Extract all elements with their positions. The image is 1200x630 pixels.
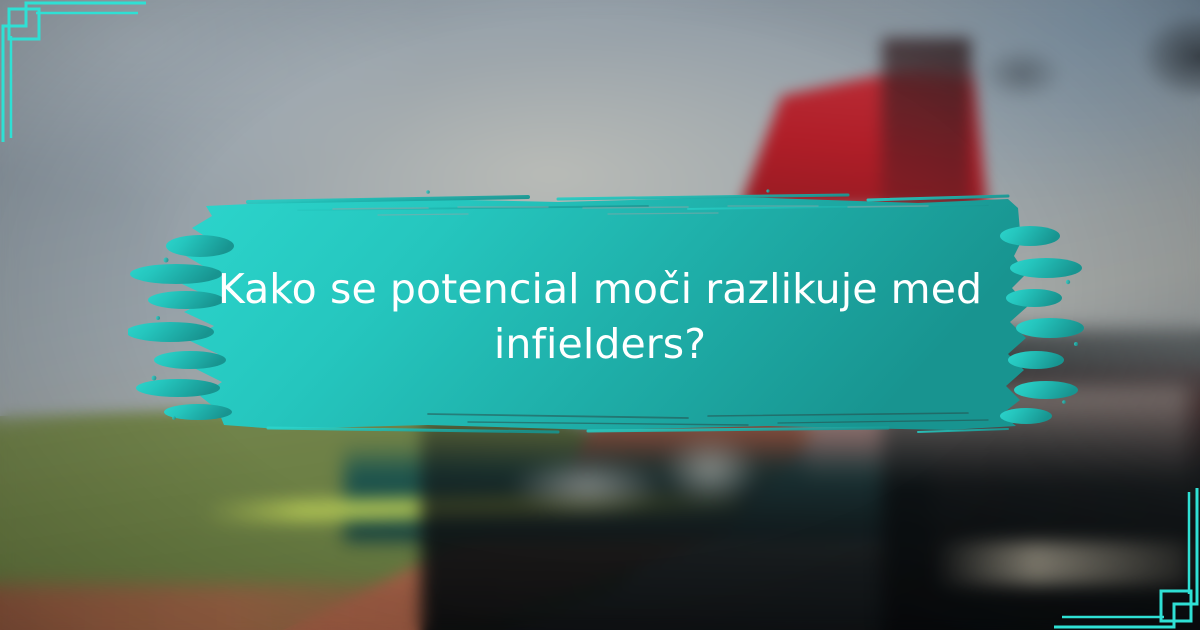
corner-frame-top-left [0, 0, 160, 152]
corner-bracket-outer [1054, 488, 1197, 627]
corner-bracket-outer [3, 3, 146, 142]
headline-text: Kako se potencial moči razlikuje med inf… [210, 262, 990, 371]
share-card: Kako se potencial moči razlikuje med inf… [0, 0, 1200, 630]
corner-square [1161, 591, 1191, 621]
corner-frame-bottom-right [1040, 478, 1200, 630]
corner-square [9, 9, 39, 39]
